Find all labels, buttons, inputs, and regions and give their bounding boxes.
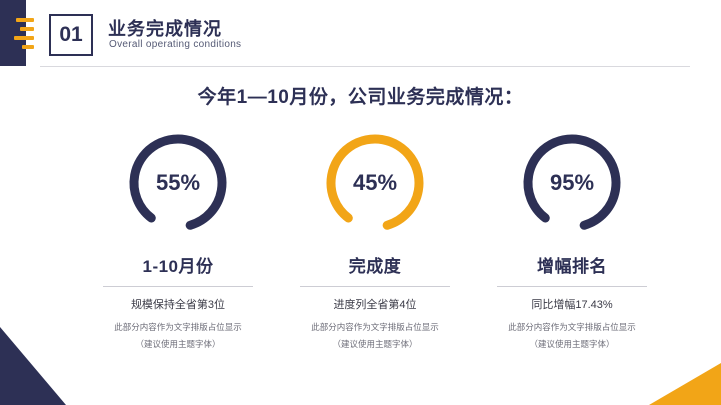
slide: 01 业务完成情况 Overall operating conditions 今…: [0, 0, 721, 405]
metric-divider-1: [103, 286, 253, 287]
bottom-left-navy-triangle: [0, 327, 66, 405]
section-title-en: Overall operating conditions: [109, 39, 241, 50]
metric-heading-3: 增幅排名: [484, 252, 660, 277]
metric-column-3: 95% 增幅排名 同比增幅17.43% 此部分内容作为文字排版占位显示 （建议使…: [484, 128, 660, 350]
metric-note-a-2: 此部分内容作为文字排版占位显示: [287, 321, 463, 333]
metric-note-a-1: 此部分内容作为文字排版占位显示: [90, 321, 266, 333]
metric-divider-3: [497, 286, 647, 287]
header-divider: [40, 66, 690, 67]
metric-note-b-2: （建议使用主题字体）: [287, 338, 463, 350]
metric-subtitle-3: 同比增幅17.43%: [484, 296, 660, 312]
metric-heading-1: 1-10月份: [90, 252, 266, 277]
metric-percent-2: 45%: [320, 128, 430, 238]
metric-heading-2: 完成度: [287, 252, 463, 277]
metric-percent-3: 95%: [517, 128, 627, 238]
metric-divider-2: [300, 286, 450, 287]
metric-column-1: 55% 1-10月份 规模保持全省第3位 此部分内容作为文字排版占位显示 （建议…: [90, 128, 266, 350]
section-title-cn: 业务完成情况: [108, 15, 222, 41]
section-number: 01: [59, 23, 82, 47]
metric-subtitle-2: 进度列全省第4位: [287, 296, 463, 312]
dashes-icon: [12, 18, 36, 50]
metric-subtitle-1: 规模保持全省第3位: [90, 296, 266, 312]
metric-note-a-3: 此部分内容作为文字排版占位显示: [484, 321, 660, 333]
metric-note-b-1: （建议使用主题字体）: [90, 338, 266, 350]
donut-chart-1: 55%: [123, 128, 233, 238]
metric-column-2: 45% 完成度 进度列全省第4位 此部分内容作为文字排版占位显示 （建议使用主题…: [287, 128, 463, 350]
section-number-box: 01: [49, 14, 93, 56]
metric-note-b-3: （建议使用主题字体）: [484, 338, 660, 350]
metrics-row: 55% 1-10月份 规模保持全省第3位 此部分内容作为文字排版占位显示 （建议…: [90, 128, 660, 350]
metric-percent-1: 55%: [123, 128, 233, 238]
donut-chart-3: 95%: [517, 128, 627, 238]
donut-chart-2: 45%: [320, 128, 430, 238]
page-title: 今年1—10月份，公司业务完成情况：: [0, 82, 721, 109]
bottom-right-amber-triangle: [649, 363, 721, 405]
